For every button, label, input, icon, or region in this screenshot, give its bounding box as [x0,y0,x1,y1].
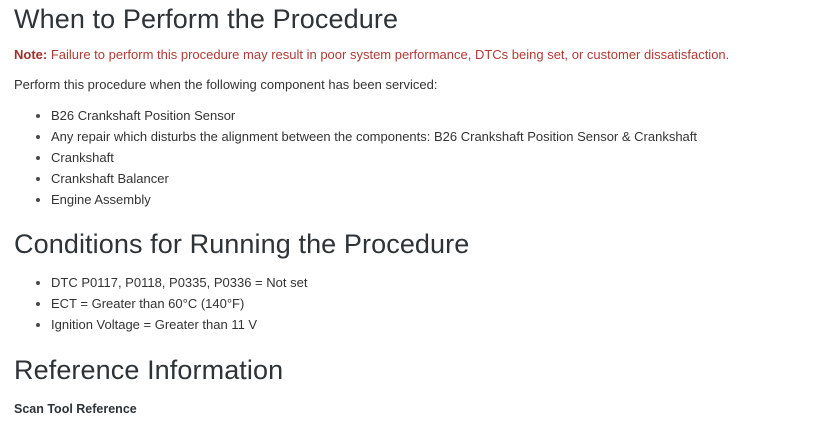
bullet-icon [36,198,40,202]
list-item: DTC P0117, P0118, P0335, P0336 = Not set [14,272,811,293]
scan-tool-reference-subheading: Scan Tool Reference [14,386,811,417]
section-reference-information: Reference Information [14,335,811,386]
list-item: ECT = Greater than 60°C (140°F) [14,293,811,314]
list-item-label: DTC P0117, P0118, P0335, P0336 = Not set [51,275,307,290]
bullet-icon [36,177,40,181]
bullet-icon [36,281,40,285]
list-item: Ignition Voltage = Greater than 11 V [14,314,811,335]
list-item-label: Ignition Voltage = Greater than 11 V [51,317,257,332]
list-item-label: Any repair which disturbs the alignment … [51,129,697,144]
bullet-icon [36,302,40,306]
section-heading-reference: Reference Information [14,354,811,386]
section-when-to-perform: When to Perform the Procedure [14,0,811,35]
bullet-icon [36,114,40,118]
section-conditions-for-running: Conditions for Running the Procedure [14,210,811,260]
page-title: When to Perform the Procedure [14,3,811,35]
list-item: Crankshaft Balancer [14,168,811,189]
conditions-list: DTC P0117, P0118, P0335, P0336 = Not set… [14,260,811,335]
list-item: B26 Crankshaft Position Sensor [14,105,811,126]
list-item: Engine Assembly [14,189,811,210]
section-heading-conditions: Conditions for Running the Procedure [14,228,811,260]
bullet-icon [36,156,40,160]
bullet-icon [36,135,40,139]
list-item: Any repair which disturbs the alignment … [14,126,811,147]
list-item: Crankshaft [14,147,811,168]
note-label: Note: [14,47,47,62]
list-item-label: Engine Assembly [51,192,151,207]
list-item-label: Crankshaft Balancer [51,171,169,186]
note-paragraph: Note: Failure to perform this procedure … [14,35,811,63]
list-item-label: Crankshaft [51,150,114,165]
document-body: When to Perform the Procedure Note: Fail… [0,0,825,417]
list-item-label: B26 Crankshaft Position Sensor [51,108,235,123]
serviced-components-list: B26 Crankshaft Position Sensor Any repai… [14,93,811,210]
intro-paragraph: Perform this procedure when the followin… [14,63,811,93]
note-text: Failure to perform this procedure may re… [47,47,729,62]
list-item-label: ECT = Greater than 60°C (140°F) [51,296,244,311]
bullet-icon [36,323,40,327]
